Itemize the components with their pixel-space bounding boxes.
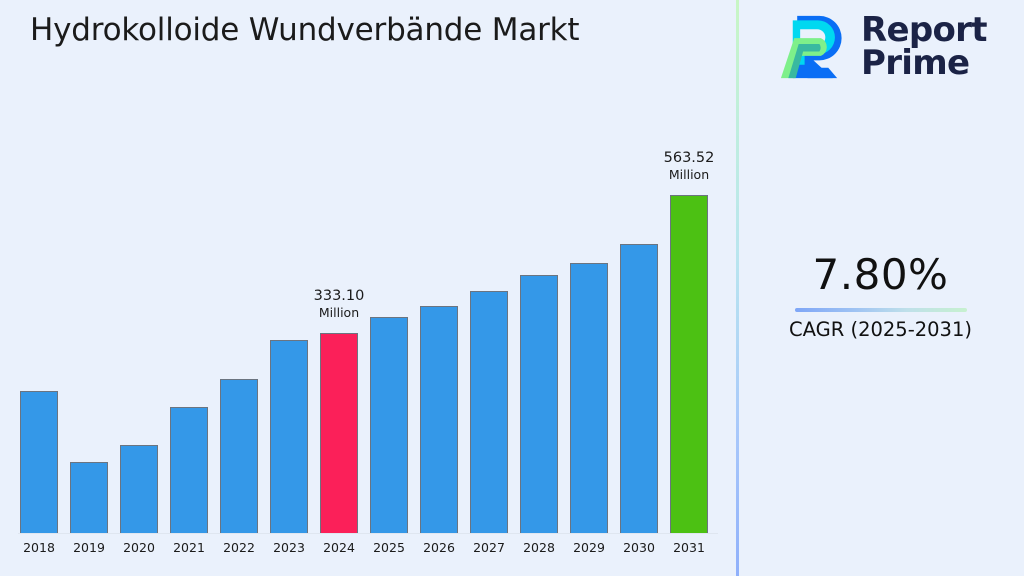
bar-rect-2024[interactable] <box>320 333 358 533</box>
value-label-unit-2031: Million <box>634 168 744 181</box>
bar-rect-2022[interactable] <box>220 379 258 533</box>
bar-rect-2018[interactable] <box>20 391 58 533</box>
bar-rect-2030[interactable] <box>620 244 658 533</box>
report-prime-logo-icon <box>775 10 849 84</box>
x-axis-line <box>18 533 718 534</box>
bar-rect-2025[interactable] <box>370 317 408 533</box>
bar-rect-2023[interactable] <box>270 340 308 533</box>
x-tick-label-2031: 2031 <box>659 540 719 555</box>
market-chart-infographic: Hydrokolloide Wundverbände Markt 2018201… <box>0 0 1024 576</box>
bar-rect-2028[interactable] <box>520 275 558 533</box>
bar-rect-2020[interactable] <box>120 445 158 533</box>
chart-panel: Hydrokolloide Wundverbände Markt 2018201… <box>0 0 737 576</box>
bar-rect-2031[interactable] <box>670 195 708 533</box>
value-label-number-2031: 563.52 <box>634 151 744 166</box>
cagr-divider-rule <box>795 308 967 312</box>
bar-rect-2029[interactable] <box>570 263 608 533</box>
bar-rect-2021[interactable] <box>170 407 208 533</box>
value-label-number-2024: 333.10 <box>284 289 394 304</box>
cagr-value: 7.80% <box>737 252 1024 298</box>
value-label-2024: 333.10Million <box>284 289 394 319</box>
info-panel: Report Prime 7.80% CAGR (2025-2031) <box>737 0 1024 576</box>
bar-rect-2026[interactable] <box>420 306 458 533</box>
bar-rect-2027[interactable] <box>470 291 508 533</box>
cagr-block: 7.80% CAGR (2025-2031) <box>737 252 1024 341</box>
brand-wordmark: Report Prime <box>861 14 987 79</box>
bar-rect-2019[interactable] <box>70 462 108 533</box>
value-label-2031: 563.52Million <box>634 151 744 181</box>
brand-line-2: Prime <box>861 47 987 80</box>
bar-chart-plot: 2018201920202021202220232024333.10Millio… <box>0 0 737 576</box>
brand-logo: Report Prime <box>775 10 987 84</box>
cagr-caption: CAGR (2025-2031) <box>737 318 1024 341</box>
